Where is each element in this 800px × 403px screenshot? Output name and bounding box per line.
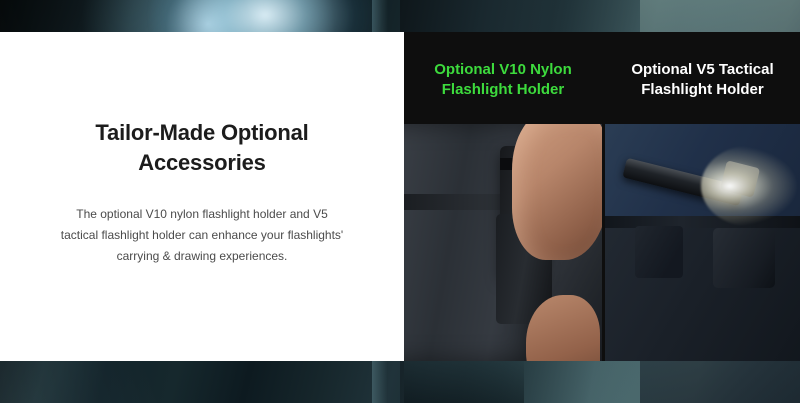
- belt-pouch-shape: [713, 228, 775, 288]
- v10-nylon-holder-photo: Optional V10 Nylon Flashlight Holder: [404, 32, 602, 361]
- v5-photo-image: [605, 124, 800, 361]
- description-text: The optional V10 nylon flashlight holder…: [56, 204, 348, 267]
- v10-caption: Optional V10 Nylon Flashlight Holder: [404, 32, 602, 124]
- content-card: Tailor-Made Optional Accessories The opt…: [0, 32, 800, 361]
- product-feature-banner: Tailor-Made Optional Accessories The opt…: [0, 0, 800, 403]
- text-column: Tailor-Made Optional Accessories The opt…: [0, 32, 404, 361]
- photo-column: Optional V10 Nylon Flashlight Holder Opt…: [404, 32, 800, 361]
- arm-shape: [512, 124, 602, 260]
- v5-tactical-holder-photo: Optional V5 Tactical Flashlight Holder: [602, 32, 800, 361]
- v10-photo-image: [404, 124, 602, 361]
- page-title: Tailor-Made Optional Accessories: [56, 118, 348, 178]
- flashlight-beam-glow: [701, 146, 797, 226]
- tactical-holster-shape: [635, 226, 683, 278]
- v5-caption: Optional V5 Tactical Flashlight Holder: [605, 32, 800, 124]
- bottom-decorative-strip: [0, 361, 800, 403]
